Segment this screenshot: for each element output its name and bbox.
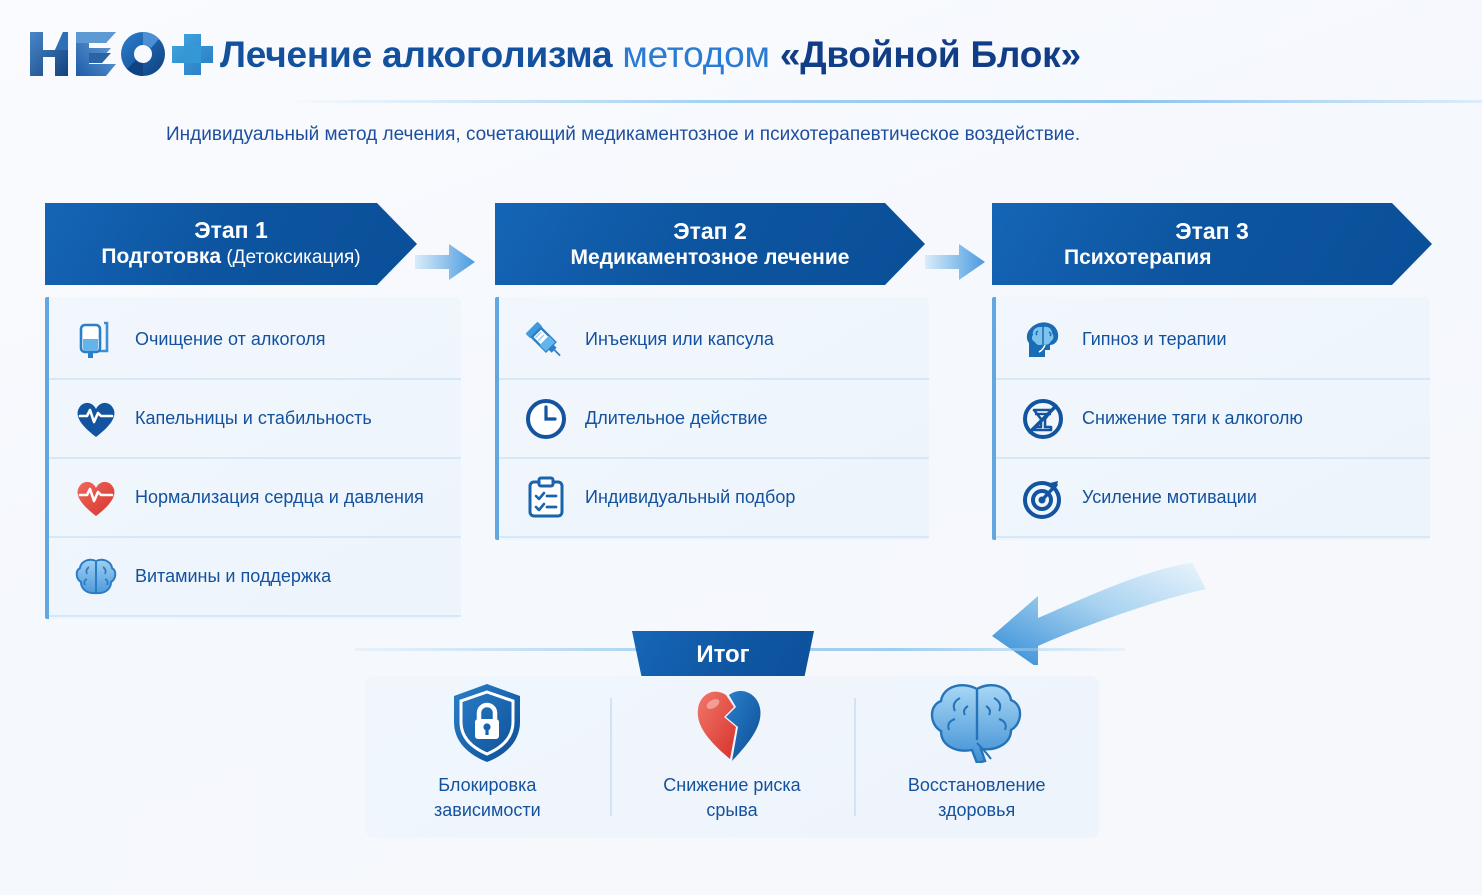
result-item-line2: срыва: [706, 800, 757, 820]
list-item[interactable]: Индивидуальный подбор: [499, 459, 929, 538]
stage-2-number: Этап 2: [673, 218, 747, 244]
list-item-label: Инъекция или капсула: [585, 329, 774, 350]
result-item[interactable]: Снижение риска срыва: [610, 696, 855, 818]
title-part-3: «Двойной Блок»: [780, 34, 1081, 75]
arrow-right-icon: [415, 243, 477, 281]
result-item-label: Снижение риска срыва: [663, 773, 800, 823]
list-item-label: Капельницы и стабильность: [135, 408, 372, 429]
stage-1-header: Этап 1 Подготовка (Детоксикация): [45, 203, 417, 285]
list-item[interactable]: Инъекция или капсула: [499, 301, 929, 380]
result-item-line2: зависимости: [434, 800, 541, 820]
stage-card-3: Этап 3 Психотерапия Гипноз и терапии: [992, 203, 1432, 540]
heart-pulse-red-icon: [71, 473, 121, 523]
list-item-label: Индивидуальный подбор: [585, 487, 795, 508]
list-item-label: Гипноз и терапии: [1082, 329, 1227, 350]
stage-1-items: Очищение от алкоголя Капельницы и стабил…: [45, 297, 461, 619]
header-divider: [280, 100, 1482, 103]
list-item[interactable]: Гипноз и терапии: [996, 301, 1430, 380]
result-panel: Блокировка зависимости: [365, 676, 1099, 838]
iv-bag-icon: [71, 315, 121, 365]
result-item-line1: Восстановление: [908, 775, 1046, 795]
list-item[interactable]: Длительное действие: [499, 380, 929, 459]
stage-3-header: Этап 3 Психотерапия: [992, 203, 1432, 285]
list-item-label: Снижение тяги к алкоголю: [1082, 408, 1303, 429]
result-item-line1: Блокировка: [438, 775, 536, 795]
list-item[interactable]: Капельницы и стабильность: [49, 380, 461, 459]
heart-pulse-blue-icon: [71, 394, 121, 444]
list-item-label: Витамины и поддержка: [135, 566, 331, 587]
result-item[interactable]: Восстановление здоровья: [854, 696, 1099, 818]
page-title: Лечение алкоголизма методом «Двойной Бло…: [220, 34, 1081, 76]
title-part-2: методом: [622, 34, 769, 75]
neo-plus-logo: [26, 26, 214, 82]
no-alcohol-icon: [1018, 394, 1068, 444]
stage-1-name-main: Подготовка: [101, 245, 221, 268]
target-arrow-icon: [1018, 473, 1068, 523]
result-item-line1: Снижение риска: [663, 775, 800, 795]
list-item-label: Усиление мотивации: [1082, 487, 1257, 508]
subtitle: Индивидуальный метод лечения, сочетающий…: [166, 124, 1080, 146]
infographic-page: Лечение алкоголизма методом «Двойной Бло…: [0, 0, 1482, 895]
stage-3-items: Гипноз и терапии Снижение тяги к алкогол…: [992, 297, 1430, 540]
result-item-line2: здоровья: [938, 800, 1015, 820]
result-item-label: Восстановление здоровья: [908, 773, 1046, 823]
result-banner: Итог: [632, 631, 814, 679]
header: Лечение алкоголизма методом «Двойной Бло…: [0, 0, 1482, 100]
stage-1-number: Этап 1: [194, 217, 268, 243]
clipboard-checklist-icon: [521, 473, 571, 523]
shield-lock-icon: [448, 691, 526, 763]
list-item[interactable]: Очищение от алкоголя: [49, 301, 461, 380]
list-item[interactable]: Усиление мотивации: [996, 459, 1430, 538]
stage-2-items: Инъекция или капсула Длительное действие: [495, 297, 929, 540]
brain-icon: [922, 691, 1032, 763]
result-section: Итог Бло: [0, 628, 1482, 858]
brain-icon: [71, 552, 121, 602]
head-brain-icon: [1018, 315, 1068, 365]
broken-heart-icon: [686, 691, 778, 763]
list-item[interactable]: Витамины и поддержка: [49, 538, 461, 617]
arrow-right-icon: [925, 243, 987, 281]
stage-1-name-suffix: (Детоксикация): [221, 247, 361, 268]
list-item-label: Нормализация сердца и давления: [135, 487, 424, 508]
title-part-1: Лечение алкоголизма: [220, 34, 612, 75]
list-item[interactable]: Нормализация сердца и давления: [49, 459, 461, 538]
stage-2-header: Этап 2 Медикаментозное лечение: [495, 203, 925, 285]
result-item[interactable]: Блокировка зависимости: [365, 696, 610, 818]
list-item-label: Длительное действие: [585, 408, 768, 429]
stage-card-2: Этап 2 Медикаментозное лечение: [495, 203, 925, 540]
stage-3-name: Психотерапия: [1064, 244, 1211, 271]
list-item-label: Очищение от алкоголя: [135, 329, 326, 350]
syringe-icon: [521, 315, 571, 365]
result-item-label: Блокировка зависимости: [434, 773, 541, 823]
stage-2-name: Медикаментозное лечение: [571, 244, 850, 271]
list-item[interactable]: Снижение тяги к алкоголю: [996, 380, 1430, 459]
stage-1-name: Подготовка (Детоксикация): [101, 243, 360, 271]
clock-icon: [521, 394, 571, 444]
stage-card-1: Этап 1 Подготовка (Детоксикация) Очищен: [45, 203, 457, 619]
stage-3-number: Этап 3: [1175, 218, 1249, 244]
